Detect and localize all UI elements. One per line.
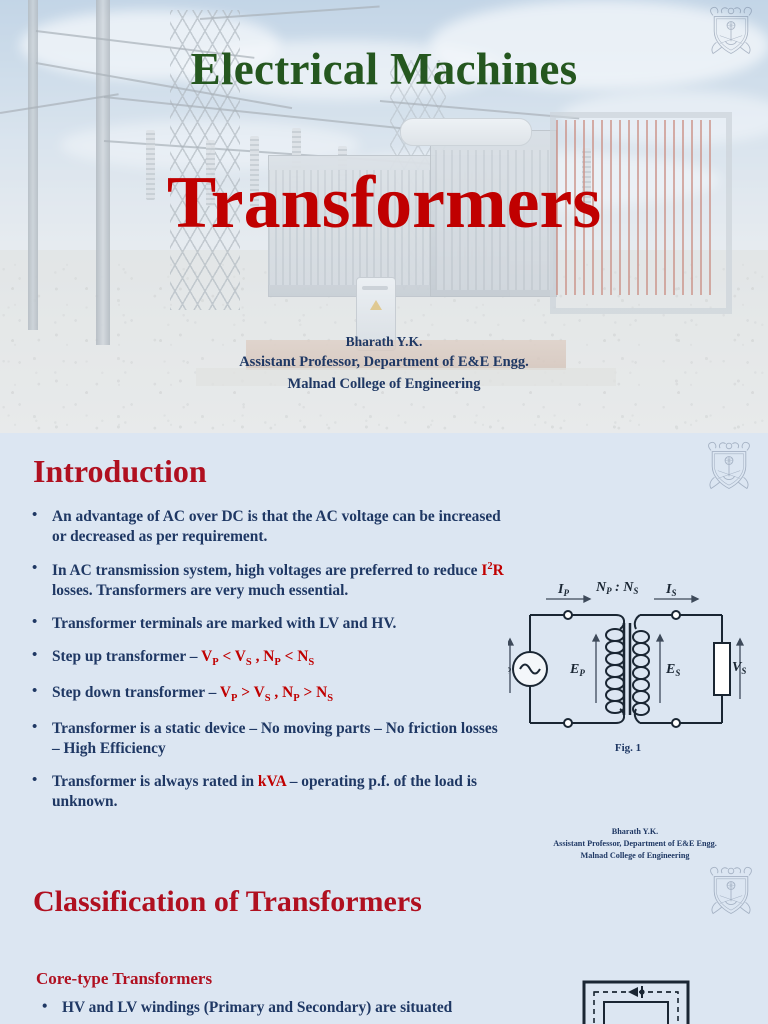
svg-text:EP: EP [569,662,585,678]
list-item-label: HV and LV windings (Primary and Secondar… [62,999,452,1017]
slide-footer: Bharath Y.K. Assistant Professor, Depart… [510,826,760,862]
transformer-circuit-diagram: IP IS NP : NS VP EP ES VS [508,573,748,758]
presentation-title: Electrical Machines [0,43,768,95]
svg-text:VS: VS [732,660,746,676]
author-role: Assistant Professor, Department of E&E E… [0,352,768,374]
malnad-college-crest-icon [700,437,758,493]
footer-author-name: Bharath Y.K. [510,826,760,838]
core-type-transformer-diagram [576,978,696,1024]
author-organization: Malnad College of Engineering [0,374,768,396]
malnad-college-crest-icon [702,862,760,918]
list-item: In AC transmission system, high voltages… [26,560,506,601]
footer-author-role: Assistant Professor, Department of E&E E… [510,838,760,850]
svg-text:IP: IP [557,582,569,598]
list-item: Step down transformer – VP > VS , NP > N… [26,683,506,706]
figure-caption: Fig. 1 [508,742,748,754]
list-item: Transformer is a static device – No movi… [26,719,506,759]
svg-text:IS: IS [665,582,676,598]
page-title: Classification of Transformers [33,885,422,919]
list-item: Step up transformer – VP < VS , NP < NS [26,647,506,670]
title-slide: Electrical Machines Transformers Bharath… [0,0,768,433]
presentation-page: Electrical Machines Transformers Bharath… [0,0,768,1024]
author-block: Bharath Y.K. Assistant Professor, Depart… [0,332,768,396]
introduction-bullet-list: An advantage of AC over DC is that the A… [26,507,506,825]
subsection-heading: Core-type Transformers [36,969,212,989]
page-title: Introduction [33,453,207,490]
svg-text:NP : NS: NP : NS [595,580,638,596]
list-item: Transformer is always rated in kVA – ope… [26,772,506,812]
list-item: HV and LV windings (Primary and Secondar… [40,999,560,1017]
list-item: Transformer terminals are marked with LV… [26,614,506,634]
malnad-college-crest-icon [702,2,760,58]
footer-author-organization: Malnad College of Engineering [510,850,760,862]
list-item: An advantage of AC over DC is that the A… [26,507,506,547]
author-name: Bharath Y.K. [0,332,768,352]
svg-text:ES: ES [665,662,680,678]
presentation-subject: Transformers [0,166,768,241]
